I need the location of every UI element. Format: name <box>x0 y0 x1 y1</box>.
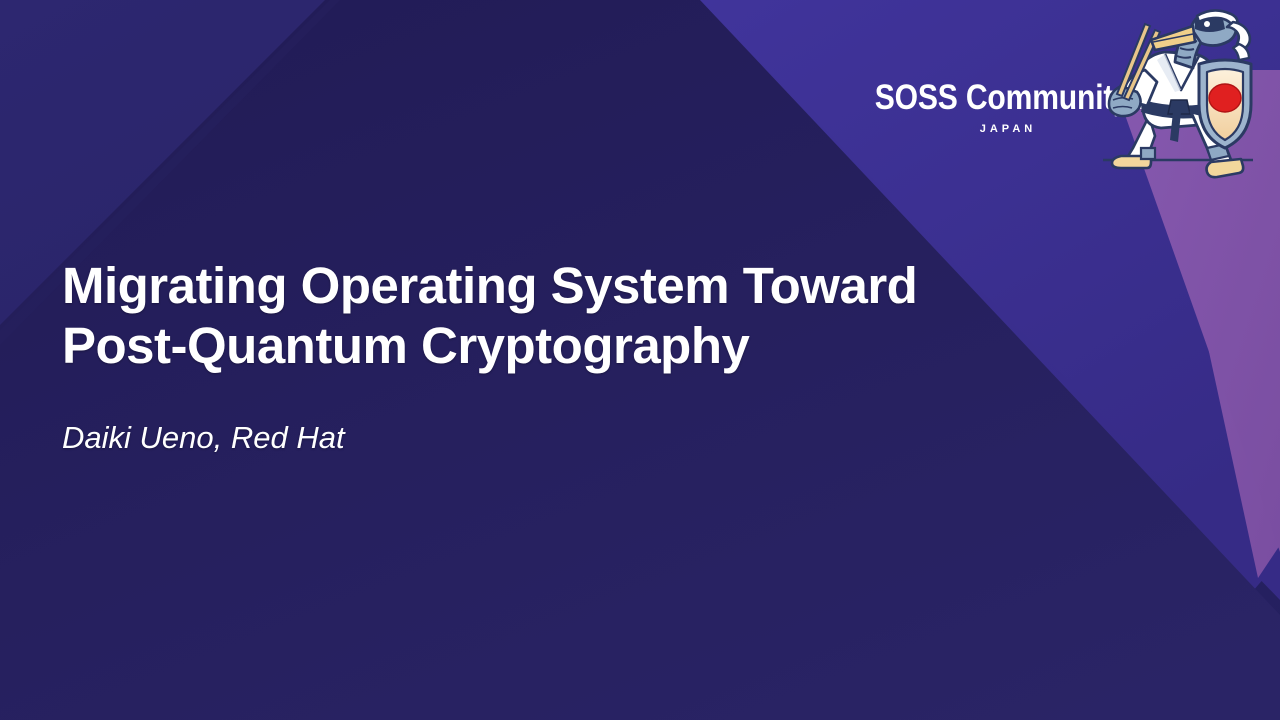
title-block: Migrating Operating System Toward Post-Q… <box>62 256 1142 456</box>
japan-flag-hinomaru-icon <box>1209 84 1241 112</box>
samurai-crane-mascot-icon <box>1103 8 1263 188</box>
mascot-front-foot <box>1207 159 1244 177</box>
page-title: Migrating Operating System Toward Post-Q… <box>62 256 1142 376</box>
mascot-back-ankle-wrap <box>1141 148 1155 159</box>
logo-wordmark: SOSS Community Day <box>875 80 1142 115</box>
mascot-belt-knot <box>1168 100 1190 114</box>
mascot-eye <box>1204 21 1210 27</box>
presentation-title-slide: SOSS Community Day JAPAN <box>0 0 1280 720</box>
soss-community-day-japan-logo: SOSS Community Day JAPAN <box>845 8 1265 188</box>
presenter-affiliation: Daiki Ueno, Red Hat <box>62 376 1142 456</box>
